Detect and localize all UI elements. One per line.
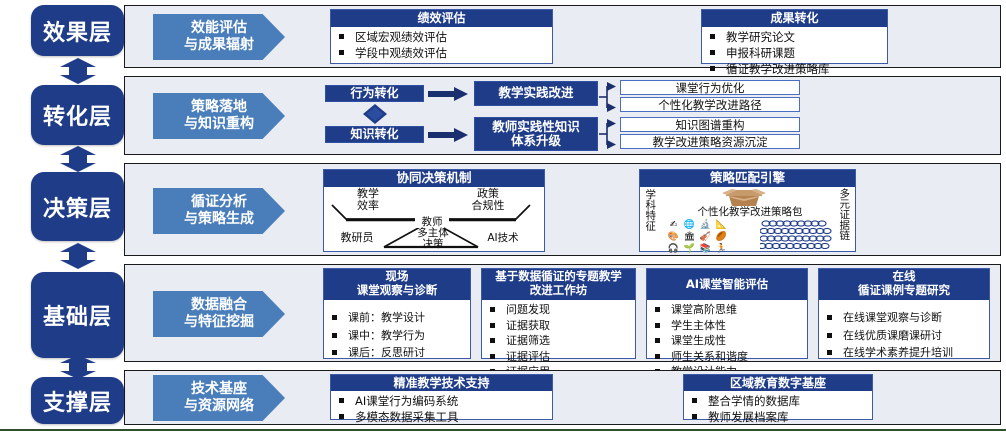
phase-line-1: 循证分析	[184, 194, 254, 211]
list-item: 课前：教学设计	[332, 311, 464, 326]
list-item-label: 证据筛选	[506, 334, 550, 349]
list-item-label: 整合学情的数据库	[708, 394, 800, 409]
layer-chip-decision[interactable]: 决策层	[31, 172, 124, 241]
list-item: 证据筛选	[490, 334, 629, 349]
evidence-chain-icon	[760, 220, 834, 249]
phase-line-2: 与知识重构	[184, 116, 254, 133]
card-precision-teaching-support[interactable]: 精准教学技术支持 AI课堂行为编码系统 多模态数据采集工具	[330, 374, 553, 420]
connector-foundation-support	[52, 355, 104, 379]
panel-title: 策略匹配引擎	[640, 170, 855, 187]
arrow-right-icon	[428, 87, 468, 101]
subject-icon: 🏛	[682, 232, 697, 243]
list-item-label: 教师发展档案库	[708, 410, 789, 425]
bullet-icon	[332, 333, 337, 338]
branch-target-line-1: 教师实践性知识	[492, 120, 580, 134]
connector-effect-transform	[52, 58, 104, 84]
list-item-label: 学段中观绩效评估	[355, 46, 447, 61]
list-item-label: 问题发现	[506, 303, 550, 318]
phase-chevron-decision: 循证分析 与策略生成	[153, 188, 285, 234]
card-title: 绩效评估	[331, 10, 552, 27]
list-item: 课堂高阶思维	[655, 303, 801, 318]
list-item-label: 证据获取	[506, 319, 550, 334]
engine-center-label: 个性化教学改进策略包	[680, 207, 820, 218]
output-classroom-behavior-optimization[interactable]: 课堂行为优化	[620, 80, 800, 95]
bullet-icon	[692, 414, 697, 419]
list-item: 课中：教学行为	[332, 329, 464, 344]
list-item-label: 课堂高阶思维	[671, 303, 737, 318]
list-item: 教师发展档案库	[692, 410, 866, 425]
balance-right-actor-label: AI技术	[479, 233, 527, 244]
balance-left-actor-label: 教研员	[332, 232, 382, 244]
phase-line-1: 效能评估	[184, 20, 254, 37]
phase-line-2: 与策略生成	[184, 211, 254, 228]
card-title: 现场 课堂观察与诊断	[324, 269, 470, 300]
balance-triangle-label: 多主体 决策	[412, 228, 454, 250]
balance-left-pan-label: 教学 效率	[344, 188, 392, 211]
list-item: 多模态数据采集工具	[339, 410, 546, 425]
branch-connector-upper	[598, 81, 620, 113]
phase-line-2: 与成果辐射	[184, 37, 254, 54]
subject-icon: 🌐	[682, 220, 697, 231]
list-item: 学段中观绩效评估	[339, 46, 546, 61]
output-personalized-path[interactable]: 个性化教学改进路径	[620, 97, 800, 112]
bullet-icon	[490, 323, 495, 328]
output-strategy-resource[interactable]: 教学改进策略资源沉淀	[620, 134, 800, 149]
list-item: 教学研究论文	[710, 30, 881, 45]
list-item: 证据评估	[490, 350, 629, 365]
subject-icon-grid: ✍ 🌐 🔬 📐 🎨 🏛 🎻 🏉 🎧 🌱 📚 🏃	[666, 220, 729, 255]
list-item-label: 在线学术素养提升培训	[843, 346, 953, 361]
list-item: 在线学术素养提升培训	[827, 346, 983, 361]
bullet-icon	[490, 307, 495, 312]
subject-icon: 📚	[698, 244, 713, 255]
arrow-right-icon	[428, 128, 468, 142]
bullet-icon	[655, 338, 660, 343]
subject-icon: ✍	[666, 220, 681, 231]
card-title: AI课堂智能评估	[647, 269, 807, 300]
card-onsite-observation[interactable]: 现场 课堂观察与诊断 课前：教学设计 课中：教学行为 课后：反思研讨	[323, 268, 471, 359]
subject-icon: 🏉	[714, 232, 729, 243]
bullet-icon	[655, 323, 660, 328]
list-item-label: 多模态数据采集工具	[355, 410, 459, 425]
list-item: 在线优质课磨课研讨	[827, 329, 983, 344]
engine-left-label: 学科特征	[644, 189, 656, 234]
connector-transform-decision	[52, 146, 104, 172]
bottom-divider	[0, 429, 1006, 431]
bidirectional-diamond-icon	[362, 103, 388, 125]
list-item-label: 在线课堂观察与诊断	[843, 311, 942, 326]
bullet-icon	[710, 50, 715, 55]
card-outcome-conversion[interactable]: 成果转化 教学研究论文 申报科研课题 循证教学改进策略库	[701, 9, 888, 64]
list-item: 课后：反思研讨	[332, 346, 464, 361]
layer-row-decision: 循证分析 与策略生成 协同决策机制	[124, 163, 1001, 256]
list-item: 整合学情的数据库	[692, 394, 866, 409]
card-title: 精准教学技术支持	[331, 375, 552, 391]
branch-connector-lower	[598, 118, 620, 150]
bullet-icon	[339, 398, 344, 403]
branch-source-behavior[interactable]: 行为转化	[325, 85, 424, 102]
card-evidence-workshop[interactable]: 基于数据循证的专题教学 改进工作坊 问题发现 证据获取 证据筛选	[481, 268, 636, 359]
bullet-icon	[339, 50, 344, 55]
engine-right-label: 多元证据链	[838, 188, 850, 243]
bullet-icon	[490, 354, 495, 359]
panel-title: 协同决策机制	[324, 170, 544, 187]
list-item: 证据获取	[490, 319, 629, 334]
phase-chevron-transform: 策略落地 与知识重构	[153, 93, 285, 139]
list-item-label: 证据评估	[506, 350, 550, 365]
list-item: AI课堂行为编码系统	[339, 394, 546, 409]
bullet-icon	[827, 315, 832, 320]
subject-icon: 🎻	[698, 232, 713, 243]
panel-collaborative-decision[interactable]: 协同决策机制 教学	[323, 169, 545, 252]
bullet-icon	[655, 354, 660, 359]
layer-row-transform: 策略落地 与知识重构 行为转化 知识转化	[124, 76, 1001, 155]
phase-chevron-foundation: 数据融合 与特征挖掘	[153, 291, 285, 337]
branch-source-knowledge[interactable]: 知识转化	[325, 126, 424, 143]
card-title: 区域教育数字基座	[684, 375, 872, 391]
bullet-icon	[339, 34, 344, 39]
branch-target-line-2: 体系升级	[492, 134, 580, 148]
output-knowledge-graph[interactable]: 知识图谱重构	[620, 117, 800, 132]
bullet-icon	[490, 338, 495, 343]
layer-row-support: 技术基座 与资源网络 精准教学技术支持 AI课堂行为编码系统 多模态数据采集工具	[124, 370, 1001, 425]
list-item: 区域宏观绩效评估	[339, 30, 546, 45]
bullet-icon	[827, 333, 832, 338]
list-item-label: AI课堂行为编码系统	[355, 394, 458, 409]
list-item: 学生主体性	[655, 319, 801, 334]
layer-chip-foundation[interactable]: 基础层	[31, 272, 124, 358]
card-regional-digital-base[interactable]: 区域教育数字基座 整合学情的数据库 教师发展档案库	[683, 374, 873, 420]
bullet-icon	[339, 414, 344, 419]
bullet-icon	[692, 398, 697, 403]
bullet-icon	[710, 34, 715, 39]
bullet-icon	[710, 66, 715, 71]
card-ai-classroom-evaluation[interactable]: AI课堂智能评估 课堂高阶思维 学生主体性 课堂生成性	[646, 268, 808, 359]
branch-target-teaching-practice[interactable]: 教学实践改进	[474, 81, 598, 106]
phase-line-2: 与特征挖掘	[184, 314, 254, 331]
list-item-label: 区域宏观绩效评估	[355, 30, 447, 45]
bullet-icon	[655, 307, 660, 312]
balance-right-pan-label: 政策 合规性	[458, 188, 518, 211]
phase-chevron-effect: 效能评估 与成果辐射	[153, 14, 285, 60]
framework-diagram: 效能评估 与成果辐射 绩效评估 区域宏观绩效评估 学段中观绩效评估	[0, 0, 1006, 432]
card-title: 基于数据循证的专题教学 改进工作坊	[482, 269, 635, 300]
list-item-label: 教学研究论文	[726, 30, 795, 45]
list-item-label: 学生主体性	[671, 319, 726, 334]
list-item-label: 申报科研课题	[726, 46, 795, 61]
subject-icon: 🏃	[714, 244, 729, 255]
list-item-label: 师生关系和谐度	[671, 350, 748, 365]
layer-row-effect: 效能评估 与成果辐射 绩效评估 区域宏观绩效评估 学段中观绩效评估	[124, 5, 1001, 68]
list-item-label: 课后：反思研讨	[348, 346, 425, 361]
list-item-label: 课前：教学设计	[348, 311, 425, 326]
layer-chip-effect[interactable]: 效果层	[31, 5, 124, 56]
connector-decision-foundation	[52, 243, 104, 269]
phase-chevron-support: 技术基座 与资源网络	[153, 375, 285, 421]
subject-icon: 🔬	[698, 220, 713, 231]
list-item: 问题发现	[490, 303, 629, 318]
list-item-label: 课堂生成性	[671, 334, 726, 349]
layer-chip-support[interactable]: 支撑层	[31, 377, 124, 424]
panel-strategy-matching-engine[interactable]: 策略匹配引擎 学科特征 多元证据链	[639, 169, 856, 252]
phase-line-1: 数据融合	[184, 297, 254, 314]
list-item: 课堂生成性	[655, 334, 801, 349]
layer-row-foundation: 数据融合 与特征挖掘 现场 课堂观察与诊断 课前：教学设计	[124, 264, 1001, 362]
phase-line-1: 技术基座	[184, 381, 254, 398]
subject-icon: 🎧	[666, 244, 681, 255]
card-title: 在线 循证课例专题研究	[819, 269, 989, 300]
list-item: 在线课堂观察与诊断	[827, 311, 983, 326]
bullet-icon	[332, 315, 337, 320]
phase-line-2: 与资源网络	[184, 398, 254, 415]
subject-icon: 🎨	[666, 232, 681, 243]
subject-icon: 🌱	[682, 244, 697, 255]
card-performance-evaluation[interactable]: 绩效评估 区域宏观绩效评估 学段中观绩效评估	[330, 9, 553, 64]
subject-icon: 📐	[714, 220, 729, 231]
bullet-icon	[332, 350, 337, 355]
list-item: 师生关系和谐度	[655, 350, 801, 365]
card-title: 成果转化	[702, 10, 887, 27]
layer-chip-transform[interactable]: 转化层	[31, 85, 124, 145]
phase-line-1: 策略落地	[184, 99, 254, 116]
list-item-label: 课中：教学行为	[348, 329, 425, 344]
bullet-icon	[827, 350, 832, 355]
branch-target-teacher-knowledge[interactable]: 教师实践性知识 体系升级	[474, 117, 598, 151]
list-item: 申报科研课题	[710, 46, 881, 61]
card-online-case-research[interactable]: 在线 循证课例专题研究 在线课堂观察与诊断 在线优质课磨课研讨 在线学术素养提升…	[818, 268, 990, 359]
open-carton-icon	[720, 187, 768, 207]
list-item-label: 在线优质课磨课研讨	[843, 329, 942, 344]
